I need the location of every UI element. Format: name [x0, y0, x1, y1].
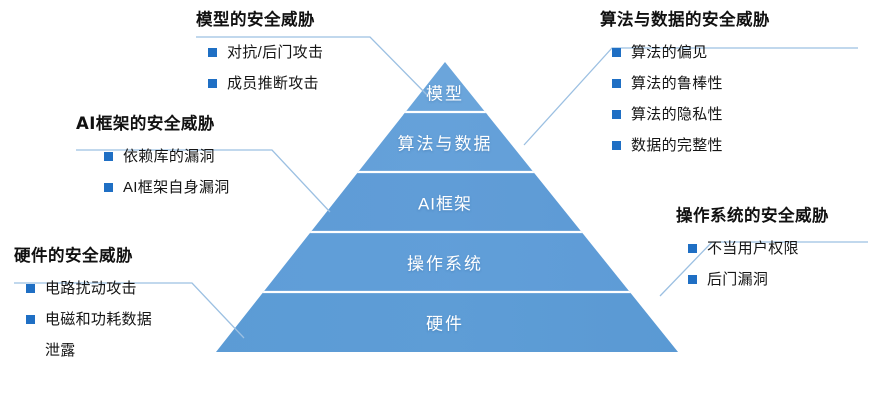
- bullet-icon: [104, 183, 113, 192]
- callout-algorithm-data-heading: 算法与数据的安全威胁: [600, 6, 770, 30]
- callout-algorithm-data: 算法与数据的安全威胁 算法的偏见 算法的鲁棒性 算法的隐私性 数据的完整性: [600, 6, 770, 161]
- list-item-label: 算法的隐私性: [631, 99, 723, 130]
- list-item-label: 电路扰动攻击: [45, 273, 137, 304]
- list-item-label: 算法的偏见: [631, 37, 708, 68]
- list-item-label: 不当用户权限: [707, 233, 799, 264]
- callout-ai-framework-list: 依赖库的漏洞 AI框架自身漏洞: [104, 141, 230, 203]
- bullet-icon: [612, 48, 621, 57]
- list-item: 后门漏洞: [688, 264, 829, 295]
- bullet-icon: [688, 244, 697, 253]
- bullet-icon: [26, 284, 35, 293]
- list-item-label: 成员推断攻击: [227, 68, 319, 99]
- pyramid-layer-ai-frame: AI框架: [418, 190, 472, 215]
- callout-model-heading: 模型的安全威胁: [196, 6, 323, 30]
- bullet-icon: [612, 141, 621, 150]
- callout-hardware-list: 电路扰动攻击 电磁和功耗数据 泄露: [26, 273, 152, 366]
- list-item: 算法的偏见: [612, 37, 770, 68]
- pyramid-layer-hardware: 硬件: [426, 310, 464, 335]
- list-item: 依赖库的漏洞: [104, 141, 230, 172]
- callout-operating-system-heading: 操作系统的安全威胁: [676, 202, 829, 226]
- list-item-label: 电磁和功耗数据: [45, 304, 152, 335]
- bullet-icon: [208, 79, 217, 88]
- list-item: 数据的完整性: [612, 130, 770, 161]
- callout-ai-framework-heading: AI框架的安全威胁: [76, 110, 230, 134]
- list-item-label: 对抗/后门攻击: [227, 37, 323, 68]
- list-item-label: 泄露: [45, 335, 76, 366]
- bullet-icon: [612, 110, 621, 119]
- bullet-icon: [208, 48, 217, 57]
- list-item-label: 数据的完整性: [631, 130, 723, 161]
- callout-operating-system: 操作系统的安全威胁 不当用户权限 后门漏洞: [676, 202, 829, 295]
- pyramid-layer-os: 操作系统: [407, 250, 483, 275]
- bullet-icon: [104, 152, 113, 161]
- bullet-icon: [688, 275, 697, 284]
- list-item: 算法的隐私性: [612, 99, 770, 130]
- callout-hardware-heading: 硬件的安全威胁: [14, 242, 152, 266]
- callout-algorithm-data-list: 算法的偏见 算法的鲁棒性 算法的隐私性 数据的完整性: [612, 37, 770, 161]
- list-item: AI框架自身漏洞: [104, 172, 230, 203]
- callout-model-list: 对抗/后门攻击 成员推断攻击: [208, 37, 323, 99]
- list-item-label: 依赖库的漏洞: [123, 141, 215, 172]
- list-item: 不当用户权限: [688, 233, 829, 264]
- bullet-icon: [26, 315, 35, 324]
- list-item: 泄露: [26, 335, 152, 366]
- list-item: 算法的鲁棒性: [612, 68, 770, 99]
- diagram-canvas: 模型 算法与数据 AI框架 操作系统 硬件 模型的安全威胁 对抗/后门攻击 成员…: [0, 0, 886, 400]
- callout-ai-framework: AI框架的安全威胁 依赖库的漏洞 AI框架自身漏洞: [76, 110, 230, 203]
- list-item: 成员推断攻击: [208, 68, 323, 99]
- list-item-label: AI框架自身漏洞: [123, 172, 230, 203]
- bullet-icon: [612, 79, 621, 88]
- pyramid-layer-algo-data: 算法与数据: [398, 130, 493, 155]
- list-item: 对抗/后门攻击: [208, 37, 323, 68]
- callout-hardware: 硬件的安全威胁 电路扰动攻击 电磁和功耗数据 泄露: [14, 242, 152, 366]
- callout-operating-system-list: 不当用户权限 后门漏洞: [688, 233, 829, 295]
- list-item-label: 算法的鲁棒性: [631, 68, 723, 99]
- list-item: 电路扰动攻击: [26, 273, 152, 304]
- list-item-label: 后门漏洞: [707, 264, 768, 295]
- pyramid-layer-model: 模型: [426, 80, 464, 105]
- list-item: 电磁和功耗数据: [26, 304, 152, 335]
- callout-model: 模型的安全威胁 对抗/后门攻击 成员推断攻击: [196, 6, 323, 99]
